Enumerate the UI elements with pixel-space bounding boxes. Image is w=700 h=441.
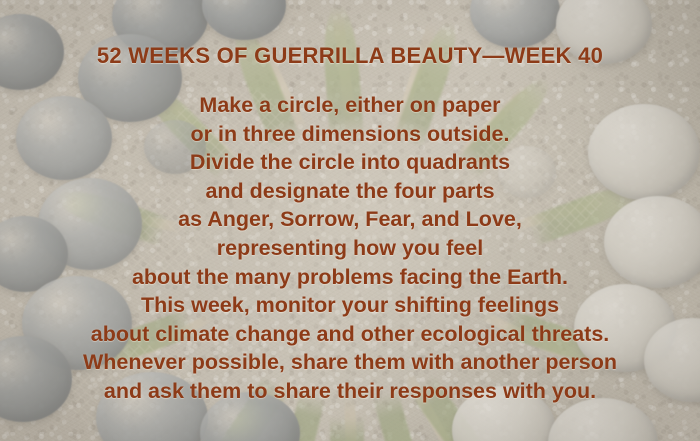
instruction-line: and ask them to share their responses wi… <box>83 377 617 406</box>
instruction-line: about climate change and other ecologica… <box>83 320 617 349</box>
instruction-line: Whenever possible, share them with anoth… <box>83 348 617 377</box>
instruction-line: Make a circle, either on paper <box>83 91 617 120</box>
instruction-line: Divide the circle into quadrants <box>83 148 617 177</box>
instruction-line: This week, monitor your shifting feeling… <box>83 291 617 320</box>
guerrilla-beauty-poster: 52 WEEKS OF GUERRILLA BEAUTY—WEEK 40 Mak… <box>0 0 700 441</box>
instruction-line: or in three dimensions outside. <box>83 120 617 149</box>
page-title: 52 WEEKS OF GUERRILLA BEAUTY—WEEK 40 <box>97 43 603 69</box>
instruction-text-block: Make a circle, either on paper or in thr… <box>83 91 617 406</box>
instruction-line: about the many problems facing the Earth… <box>83 263 617 292</box>
poster-text-content: 52 WEEKS OF GUERRILLA BEAUTY—WEEK 40 Mak… <box>0 0 700 441</box>
instruction-line: representing how you feel <box>83 234 617 263</box>
instruction-line: and designate the four parts <box>83 177 617 206</box>
instruction-line: as Anger, Sorrow, Fear, and Love, <box>83 205 617 234</box>
